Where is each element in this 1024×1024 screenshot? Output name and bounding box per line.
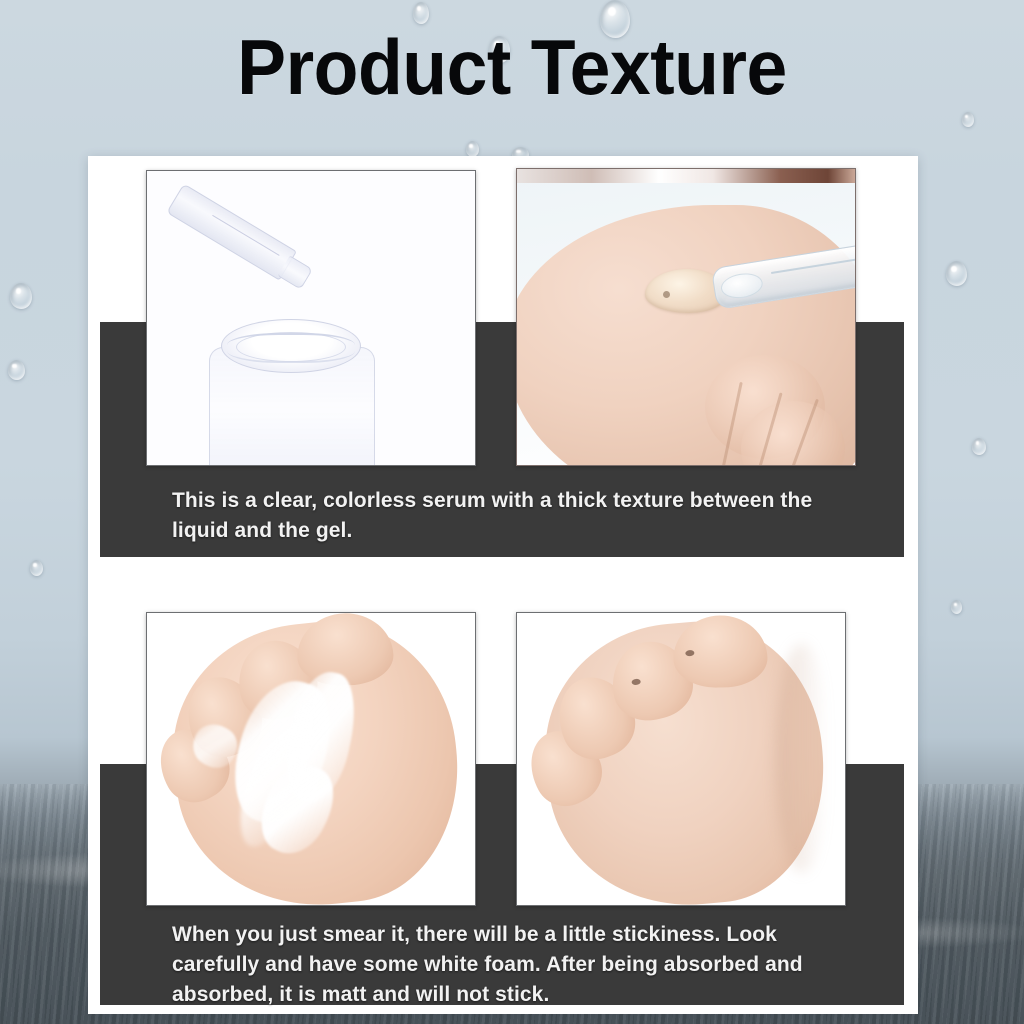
smeared-serum-photo — [146, 612, 476, 906]
hand-drop-illustration — [517, 169, 855, 465]
poster-canvas: Product Texture This is a clear, colorle… — [0, 0, 1024, 1024]
water-droplet — [951, 600, 962, 614]
water-droplet — [946, 261, 967, 286]
water-droplet — [972, 438, 986, 455]
water-droplet — [8, 360, 25, 380]
water-droplet — [413, 2, 429, 24]
bottle-illustration — [147, 171, 475, 465]
smear-illustration — [147, 613, 475, 905]
hand-shadow — [775, 643, 829, 873]
caption-text-bottom: When you just smear it, there will be a … — [172, 920, 856, 1010]
water-droplet — [962, 112, 974, 127]
page-title: Product Texture — [31, 28, 994, 108]
water-droplet — [466, 141, 479, 157]
finger-shape — [296, 612, 394, 687]
dropper-over-bottle-photo — [146, 170, 476, 466]
content-card: This is a clear, colorless serum with a … — [88, 156, 918, 1014]
serum-drop-on-hand-photo — [516, 168, 856, 466]
pipette-shape — [166, 183, 297, 280]
hand-shape — [516, 205, 856, 466]
pipette-highlight — [212, 215, 279, 256]
water-droplet — [10, 283, 32, 309]
photo-top-strip — [517, 169, 855, 183]
matte-illustration — [517, 613, 845, 905]
water-droplet — [30, 560, 43, 576]
caption-text-top: This is a clear, colorless serum with a … — [172, 486, 874, 546]
absorbed-matte-photo — [516, 612, 846, 906]
bottle-thread-shape — [227, 333, 355, 363]
